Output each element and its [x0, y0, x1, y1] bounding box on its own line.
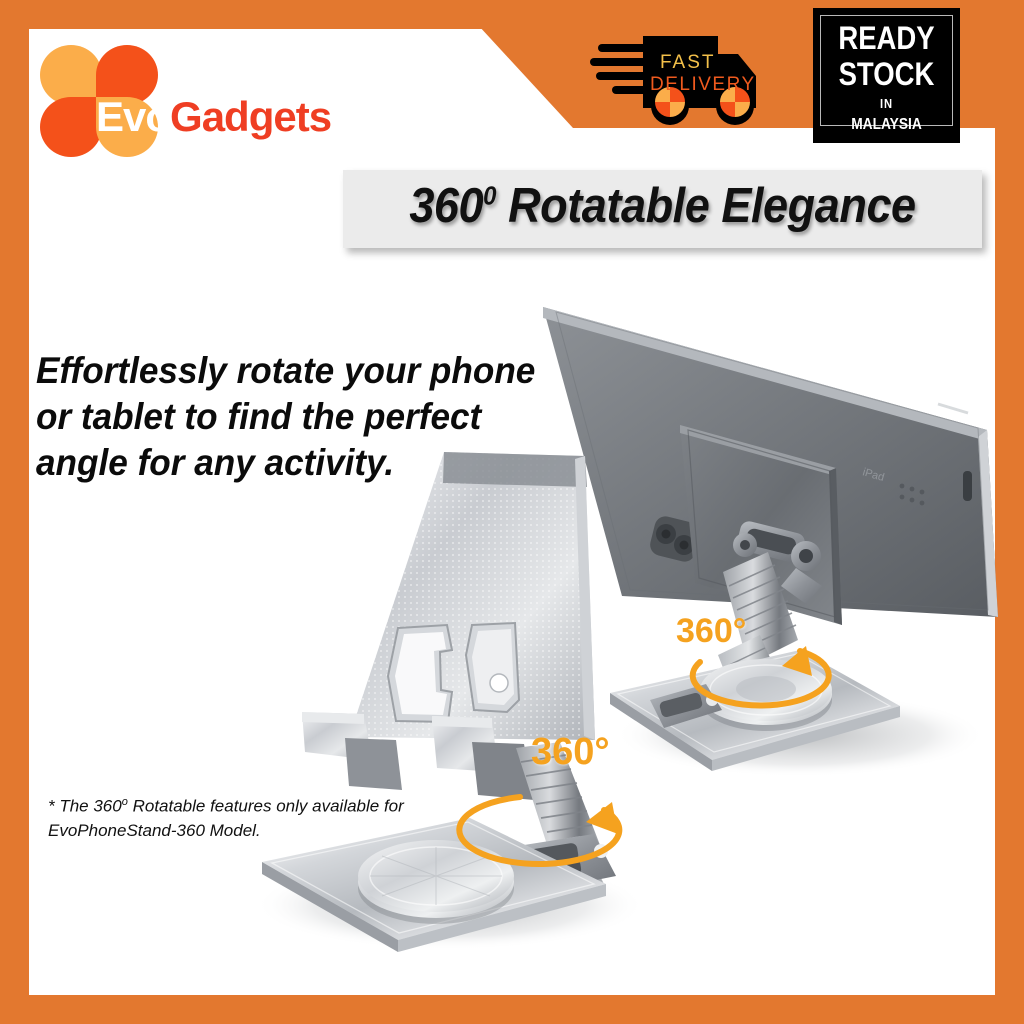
ready-stock-line-in: IN — [823, 96, 949, 111]
page-title: 3600 Rotatable Elegance — [369, 178, 957, 234]
petal-bottom-left — [40, 97, 102, 157]
fast-delivery-badge: FAST DELIVERY — [588, 28, 778, 133]
fast-delivery-line2: DELIVERY — [650, 74, 756, 95]
tablet-stand-product: iPad — [543, 307, 998, 777]
annotation-360-phone: 360° — [531, 731, 610, 774]
brand-logo[interactable]: EvoGadgets — [40, 45, 315, 157]
ready-stock-line-stock: STOCK — [823, 56, 949, 93]
body-copy-line-2: or tablet to find the perfect — [36, 394, 540, 440]
brand-logo-text: EvoGadgets — [96, 93, 331, 141]
body-copy-line-3: angle for any activity. — [36, 440, 540, 486]
body-copy: Effortlessly rotate your phone or tablet… — [36, 348, 540, 486]
footnote-disclaimer: * The 360o Rotatable features only avail… — [48, 790, 408, 843]
ready-stock-badge: READY STOCK IN MALAYSIA — [813, 8, 960, 143]
phone-stand-product — [255, 452, 645, 952]
body-copy-line-1: Effortlessly rotate your phone — [36, 348, 540, 394]
ready-stock-line-ready: READY — [823, 20, 949, 57]
footnote-prefix: * The 360 — [48, 797, 122, 816]
advertisement-canvas: iPad — [0, 0, 1024, 1024]
annotation-360-tablet: 360° — [676, 612, 746, 651]
headline-number: 360 — [409, 179, 483, 233]
headline-degree: 0 — [483, 181, 496, 211]
headline-banner: 3600 Rotatable Elegance — [343, 170, 982, 248]
petal-top-left — [40, 45, 102, 105]
headline-rest: Rotatable Elegance — [496, 179, 916, 233]
fast-delivery-line1: FAST — [660, 52, 716, 73]
ready-stock-line-malaysia: MALAYSIA — [823, 116, 949, 134]
brand-name-gadgets: Gadgets — [170, 93, 331, 140]
brand-name-evo: Evo — [96, 93, 170, 140]
